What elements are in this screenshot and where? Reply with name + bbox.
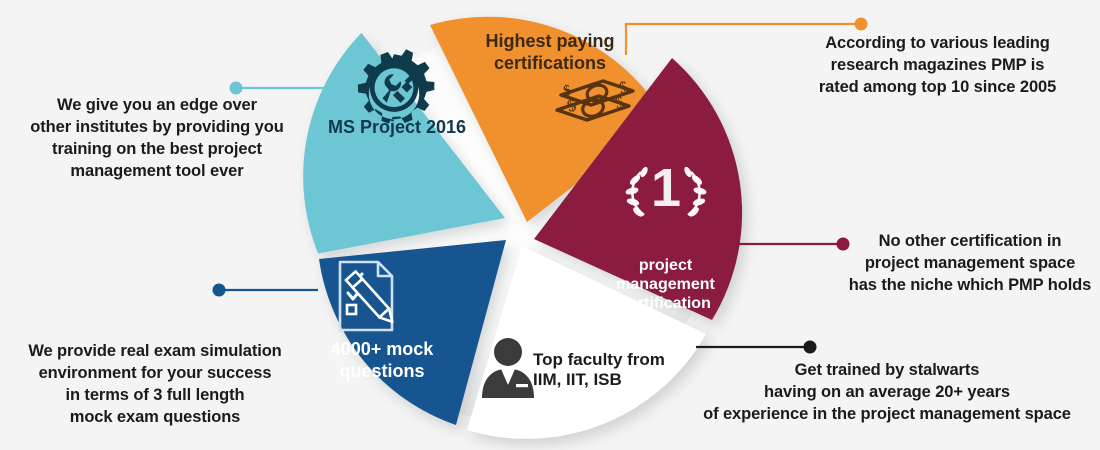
callout-highest-paying: According to various leading research ma… <box>790 33 1085 99</box>
callout-top-faculty: Get trained by stalwarts having on an av… <box>678 360 1096 426</box>
infographic-stage: $ $ $ $ 1 <box>0 0 1100 450</box>
connector-top-faculty <box>696 341 817 354</box>
callout-mock-questions: We provide real exam simulation environm… <box>10 341 300 429</box>
callout-ms-project: We give you an edge over other institute… <box>18 95 296 183</box>
callout-pm-certification: No other certification in project manage… <box>845 231 1095 297</box>
badge-number: 1 <box>651 158 681 218</box>
connector-mock-questions <box>213 284 319 297</box>
